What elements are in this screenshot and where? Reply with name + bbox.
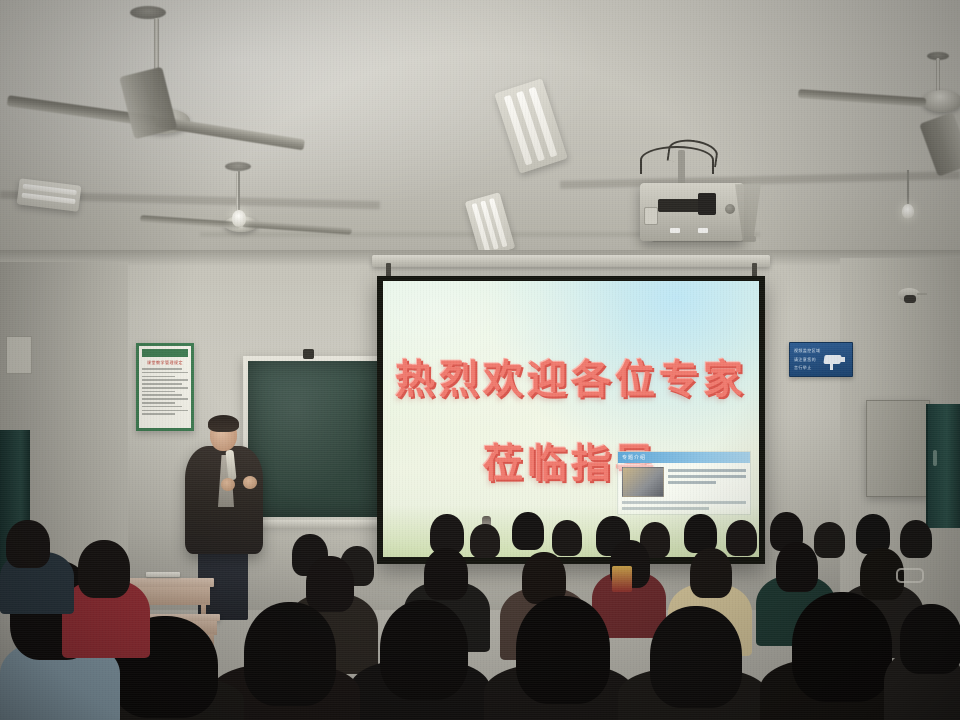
- audience-head: [424, 548, 468, 600]
- desk-book: [146, 572, 180, 577]
- slide-card-body: [618, 463, 750, 501]
- chalkboard-clip: [303, 349, 314, 359]
- surveillance-notice-sign: 视频监控区域 请注意您的 言行举止: [789, 342, 853, 377]
- audience-head: [814, 522, 845, 558]
- audience-head: [650, 606, 742, 708]
- wall-cabinet: [866, 400, 930, 497]
- audience-glasses-icon: [896, 568, 924, 583]
- left-wall-poster: [6, 336, 32, 374]
- audience-head: [380, 600, 468, 700]
- surveillance-sign-text: 视频监控区域 请注意您的 言行举止: [790, 348, 822, 371]
- chalkboard-surface: [248, 361, 384, 517]
- audience-head: [6, 520, 50, 568]
- audience-head: [776, 542, 818, 592]
- pendant-lamp-icon: [228, 170, 250, 230]
- right-door: [926, 404, 960, 528]
- notice-board-header: [142, 349, 188, 357]
- notice-board-text-lines: [142, 368, 188, 425]
- audience-head: [792, 592, 892, 702]
- audience-scarf: [612, 566, 632, 592]
- audience-head: [900, 604, 960, 674]
- audience-head: [690, 548, 732, 598]
- audience-head: [552, 520, 582, 556]
- audience-head: [78, 540, 130, 598]
- slide-card-text-lines: [668, 467, 746, 497]
- classroom-photo: 课堂教学管理规定 视频监控区域 请注意您的 言行举止: [0, 0, 960, 720]
- presenter-hand-right: [243, 476, 257, 489]
- presenter-hair: [208, 415, 239, 432]
- door-handle: [933, 450, 937, 466]
- audience-head: [512, 512, 544, 550]
- slide-card-thumbnail: [622, 467, 664, 497]
- notice-board: 课堂教学管理规定: [136, 343, 194, 431]
- presenter-hand-left: [221, 478, 235, 491]
- audience-head: [306, 556, 354, 612]
- pendant-lamp-icon: [898, 170, 918, 224]
- audience-head: [470, 524, 500, 558]
- projector-icon: [640, 183, 744, 241]
- audience-head: [900, 520, 932, 558]
- audience-head: [244, 602, 336, 706]
- surveillance-camera-icon: [822, 349, 848, 371]
- slide-title-line1: 热烈欢迎各位专家: [383, 347, 759, 405]
- ceiling-fan-icon: [786, 58, 960, 168]
- surveillance-sign-line2: 请注意您的: [794, 357, 822, 363]
- ceiling-fan-icon: [60, 12, 320, 152]
- notice-board-title: 课堂教学管理规定: [142, 360, 188, 366]
- slide-card-header-text: 专题介绍: [622, 454, 646, 461]
- surveillance-sign-line3: 言行举止: [794, 365, 822, 371]
- security-camera-icon: [898, 288, 924, 306]
- surveillance-sign-line1: 视频监控区域: [794, 348, 822, 354]
- chalkboard-icon: [243, 356, 389, 522]
- audience-head: [726, 520, 757, 556]
- audience-head: [516, 596, 610, 704]
- projection-screen-roller: [372, 255, 770, 267]
- slide-card-header: 专题介绍: [618, 452, 750, 463]
- ceiling-fan-icon: [188, 168, 368, 252]
